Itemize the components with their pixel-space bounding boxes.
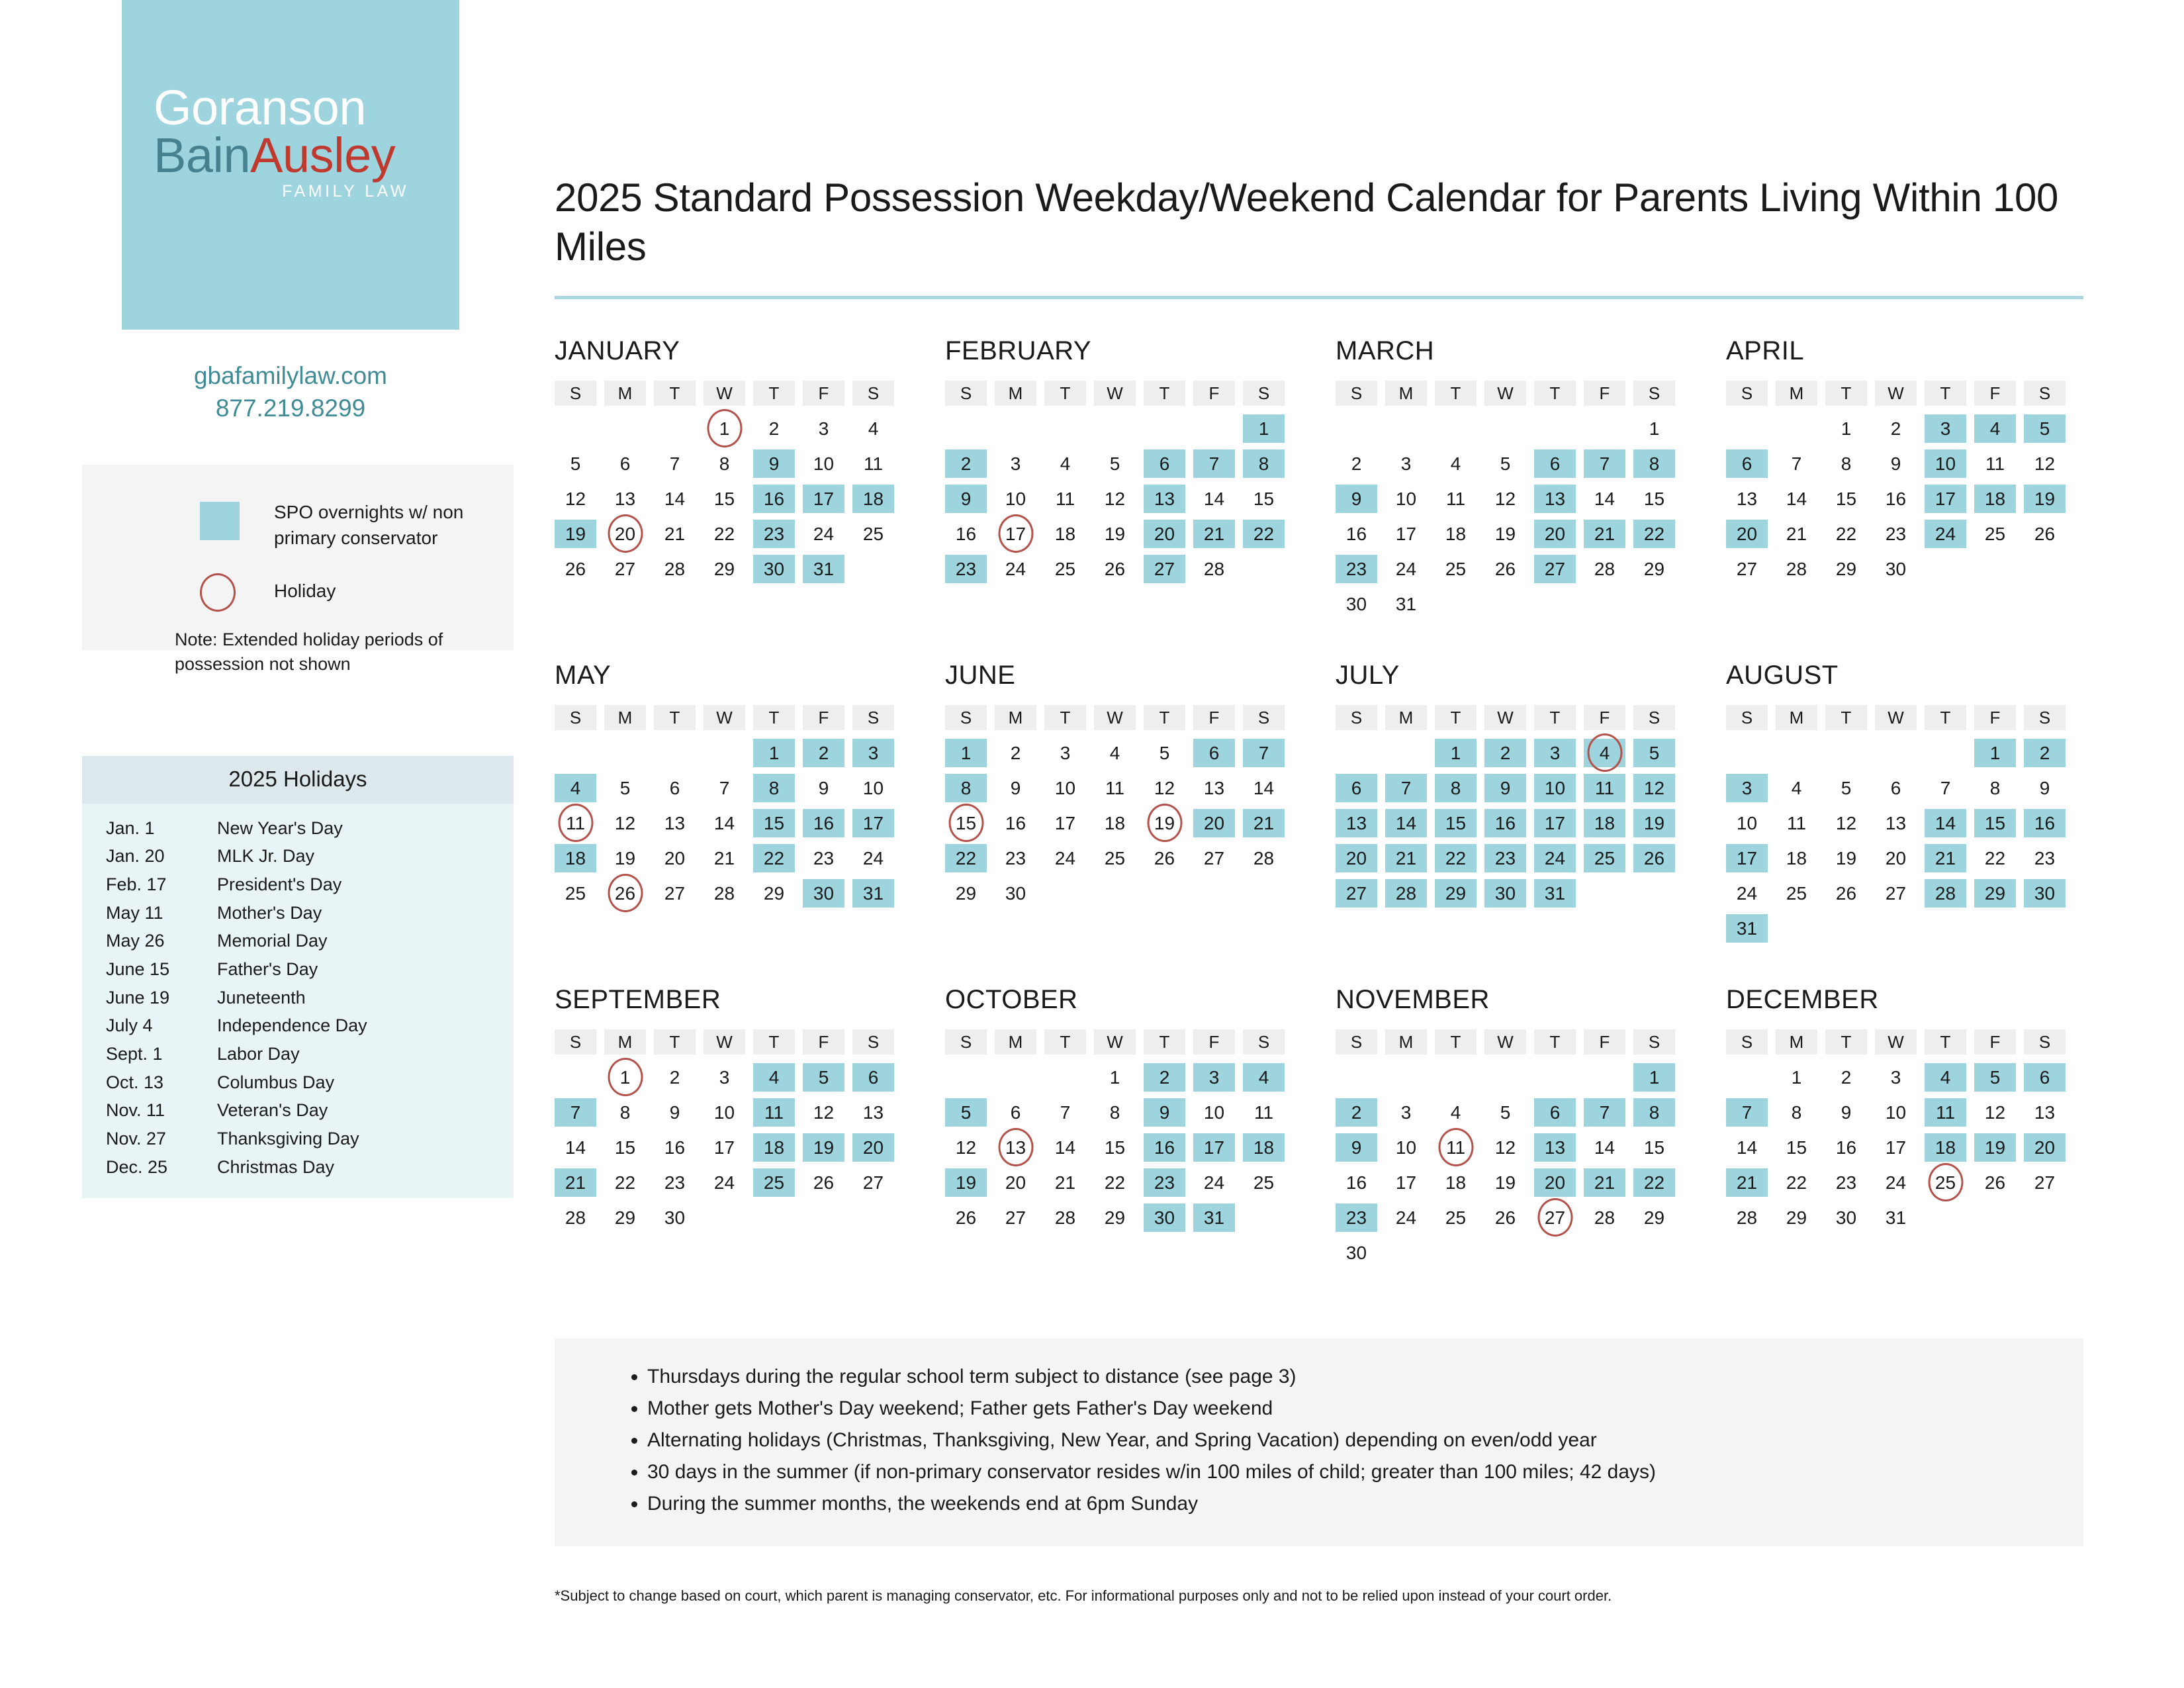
day-cell[interactable]: 16	[995, 809, 1036, 837]
day-cell[interactable]: 7	[1584, 449, 1625, 478]
day-cell[interactable]: 6	[2024, 1063, 2066, 1092]
day-cell[interactable]: 16	[753, 485, 795, 513]
day-cell[interactable]: 2	[1336, 449, 1377, 478]
day-cell[interactable]: 29	[1825, 555, 1867, 583]
day-cell[interactable]: 9	[1875, 449, 1917, 478]
day-cell[interactable]: 9	[1336, 485, 1377, 513]
day-cell[interactable]: 6	[604, 449, 646, 478]
day-cell[interactable]: 16	[1484, 809, 1526, 837]
day-cell[interactable]: 3	[1925, 414, 1966, 443]
day-cell[interactable]: 16	[1336, 1168, 1377, 1197]
day-cell[interactable]: 3	[1385, 449, 1427, 478]
day-cell[interactable]: 1	[1094, 1063, 1136, 1092]
day-cell[interactable]: 22	[945, 844, 987, 872]
day-cell[interactable]: 4	[1044, 449, 1086, 478]
day-cell[interactable]: 28	[1584, 555, 1625, 583]
day-cell[interactable]: 10	[1193, 1098, 1235, 1127]
day-cell[interactable]: 17	[1385, 520, 1427, 548]
day-cell[interactable]: 26	[1633, 844, 1675, 872]
day-cell[interactable]: 1	[1435, 739, 1477, 767]
day-cell[interactable]: 15	[945, 809, 987, 837]
day-cell[interactable]: 21	[1044, 1168, 1086, 1197]
day-cell[interactable]: 12	[1484, 485, 1526, 513]
day-cell[interactable]: 24	[1925, 520, 1966, 548]
day-cell[interactable]: 11	[852, 449, 894, 478]
day-cell[interactable]: 16	[1825, 1133, 1867, 1162]
day-cell[interactable]: 11	[1974, 449, 2016, 478]
day-cell[interactable]: 6	[1193, 739, 1235, 767]
day-cell[interactable]: 22	[753, 844, 795, 872]
day-cell[interactable]: 30	[1825, 1203, 1867, 1232]
day-cell[interactable]: 19	[555, 520, 596, 548]
day-cell[interactable]: 6	[1336, 774, 1377, 802]
day-cell[interactable]: 14	[1925, 809, 1966, 837]
day-cell[interactable]: 17	[852, 809, 894, 837]
day-cell[interactable]: 8	[1435, 774, 1477, 802]
day-cell[interactable]: 24	[1385, 1203, 1427, 1232]
day-cell[interactable]: 12	[1825, 809, 1867, 837]
day-cell[interactable]: 4	[1584, 739, 1625, 767]
day-cell[interactable]: 25	[1044, 555, 1086, 583]
day-cell[interactable]: 1	[604, 1063, 646, 1092]
day-cell[interactable]: 19	[2024, 485, 2066, 513]
day-cell[interactable]: 31	[1534, 879, 1576, 908]
day-cell[interactable]: 26	[945, 1203, 987, 1232]
day-cell[interactable]: 15	[704, 485, 745, 513]
day-cell[interactable]: 24	[803, 520, 844, 548]
day-cell[interactable]: 31	[1385, 590, 1427, 618]
day-cell[interactable]: 4	[753, 1063, 795, 1092]
day-cell[interactable]: 8	[753, 774, 795, 802]
day-cell[interactable]: 13	[654, 809, 696, 837]
day-cell[interactable]: 10	[1875, 1098, 1917, 1127]
day-cell[interactable]: 11	[1243, 1098, 1285, 1127]
day-cell[interactable]: 13	[1534, 1133, 1576, 1162]
day-cell[interactable]: 9	[753, 449, 795, 478]
day-cell[interactable]: 30	[1144, 1203, 1185, 1232]
day-cell[interactable]: 15	[1633, 1133, 1675, 1162]
day-cell[interactable]: 11	[1435, 485, 1477, 513]
day-cell[interactable]: 7	[704, 774, 745, 802]
day-cell[interactable]: 10	[803, 449, 844, 478]
day-cell[interactable]: 31	[852, 879, 894, 908]
day-cell[interactable]: 25	[753, 1168, 795, 1197]
day-cell[interactable]: 8	[604, 1098, 646, 1127]
day-cell[interactable]: 6	[852, 1063, 894, 1092]
day-cell[interactable]: 25	[555, 879, 596, 908]
day-cell[interactable]: 16	[2024, 809, 2066, 837]
day-cell[interactable]: 5	[1484, 1098, 1526, 1127]
day-cell[interactable]: 30	[1875, 555, 1917, 583]
day-cell[interactable]: 19	[1633, 809, 1675, 837]
phone-number[interactable]: 877.219.8299	[122, 393, 459, 425]
day-cell[interactable]: 5	[1144, 739, 1185, 767]
day-cell[interactable]: 24	[1534, 844, 1576, 872]
day-cell[interactable]: 18	[1584, 809, 1625, 837]
day-cell[interactable]: 22	[704, 520, 745, 548]
day-cell[interactable]: 26	[1825, 879, 1867, 908]
day-cell[interactable]: 11	[1094, 774, 1136, 802]
day-cell[interactable]: 27	[1726, 555, 1768, 583]
day-cell[interactable]: 19	[945, 1168, 987, 1197]
day-cell[interactable]: 29	[1776, 1203, 1817, 1232]
day-cell[interactable]: 21	[1776, 520, 1817, 548]
website-link[interactable]: gbafamilylaw.com	[122, 360, 459, 393]
day-cell[interactable]: 1	[1633, 1063, 1675, 1092]
day-cell[interactable]: 26	[1094, 555, 1136, 583]
day-cell[interactable]: 8	[1974, 774, 2016, 802]
day-cell[interactable]: 17	[1193, 1133, 1235, 1162]
day-cell[interactable]: 20	[1193, 809, 1235, 837]
day-cell[interactable]: 26	[2024, 520, 2066, 548]
day-cell[interactable]: 15	[1825, 485, 1867, 513]
day-cell[interactable]: 26	[555, 555, 596, 583]
day-cell[interactable]: 23	[753, 520, 795, 548]
day-cell[interactable]: 17	[995, 520, 1036, 548]
day-cell[interactable]: 20	[604, 520, 646, 548]
day-cell[interactable]: 27	[1193, 844, 1235, 872]
day-cell[interactable]: 27	[604, 555, 646, 583]
day-cell[interactable]: 2	[2024, 739, 2066, 767]
day-cell[interactable]: 8	[1633, 449, 1675, 478]
day-cell[interactable]: 2	[1875, 414, 1917, 443]
day-cell[interactable]: 13	[1193, 774, 1235, 802]
day-cell[interactable]: 17	[1385, 1168, 1427, 1197]
day-cell[interactable]: 10	[852, 774, 894, 802]
day-cell[interactable]: 18	[1435, 1168, 1477, 1197]
day-cell[interactable]: 8	[1094, 1098, 1136, 1127]
day-cell[interactable]: 5	[1974, 1063, 2016, 1092]
day-cell[interactable]: 6	[995, 1098, 1036, 1127]
day-cell[interactable]: 28	[1584, 1203, 1625, 1232]
day-cell[interactable]: 27	[2024, 1168, 2066, 1197]
day-cell[interactable]: 16	[1144, 1133, 1185, 1162]
day-cell[interactable]: 16	[1336, 520, 1377, 548]
day-cell[interactable]: 28	[704, 879, 745, 908]
day-cell[interactable]: 12	[1144, 774, 1185, 802]
day-cell[interactable]: 26	[1974, 1168, 2016, 1197]
day-cell[interactable]: 18	[1094, 809, 1136, 837]
day-cell[interactable]: 14	[1193, 485, 1235, 513]
day-cell[interactable]: 28	[654, 555, 696, 583]
day-cell[interactable]: 12	[1484, 1133, 1526, 1162]
day-cell[interactable]: 6	[654, 774, 696, 802]
day-cell[interactable]: 20	[1875, 844, 1917, 872]
day-cell[interactable]: 22	[1974, 844, 2016, 872]
day-cell[interactable]: 13	[2024, 1098, 2066, 1127]
day-cell[interactable]: 30	[1336, 1239, 1377, 1267]
day-cell[interactable]: 13	[1534, 485, 1576, 513]
day-cell[interactable]: 7	[1925, 774, 1966, 802]
day-cell[interactable]: 11	[1776, 809, 1817, 837]
day-cell[interactable]: 3	[1726, 774, 1768, 802]
day-cell[interactable]: 11	[1925, 1098, 1966, 1127]
day-cell[interactable]: 3	[1193, 1063, 1235, 1092]
day-cell[interactable]: 12	[555, 485, 596, 513]
day-cell[interactable]: 8	[1776, 1098, 1817, 1127]
day-cell[interactable]: 24	[1875, 1168, 1917, 1197]
day-cell[interactable]: 15	[1633, 485, 1675, 513]
day-cell[interactable]: 28	[1193, 555, 1235, 583]
day-cell[interactable]: 25	[1925, 1168, 1966, 1197]
day-cell[interactable]: 20	[1726, 520, 1768, 548]
day-cell[interactable]: 22	[1243, 520, 1285, 548]
day-cell[interactable]: 11	[555, 809, 596, 837]
day-cell[interactable]: 18	[1974, 485, 2016, 513]
day-cell[interactable]: 28	[555, 1203, 596, 1232]
day-cell[interactable]: 7	[1193, 449, 1235, 478]
day-cell[interactable]: 12	[604, 809, 646, 837]
day-cell[interactable]: 2	[803, 739, 844, 767]
day-cell[interactable]: 10	[704, 1098, 745, 1127]
day-cell[interactable]: 27	[1534, 555, 1576, 583]
day-cell[interactable]: 14	[1584, 1133, 1625, 1162]
day-cell[interactable]: 26	[1484, 1203, 1526, 1232]
day-cell[interactable]: 23	[654, 1168, 696, 1197]
day-cell[interactable]: 24	[1044, 844, 1086, 872]
day-cell[interactable]: 25	[852, 520, 894, 548]
day-cell[interactable]: 22	[1094, 1168, 1136, 1197]
day-cell[interactable]: 27	[852, 1168, 894, 1197]
day-cell[interactable]: 9	[1484, 774, 1526, 802]
day-cell[interactable]: 6	[1534, 1098, 1576, 1127]
day-cell[interactable]: 21	[1726, 1168, 1768, 1197]
day-cell[interactable]: 12	[1974, 1098, 2016, 1127]
day-cell[interactable]: 29	[753, 879, 795, 908]
day-cell[interactable]: 24	[704, 1168, 745, 1197]
day-cell[interactable]: 7	[1385, 774, 1427, 802]
day-cell[interactable]: 13	[1144, 485, 1185, 513]
day-cell[interactable]: 3	[1875, 1063, 1917, 1092]
day-cell[interactable]: 21	[1925, 844, 1966, 872]
day-cell[interactable]: 13	[1336, 809, 1377, 837]
day-cell[interactable]: 18	[1925, 1133, 1966, 1162]
day-cell[interactable]: 15	[1243, 485, 1285, 513]
day-cell[interactable]: 13	[852, 1098, 894, 1127]
day-cell[interactable]: 19	[1974, 1133, 2016, 1162]
day-cell[interactable]: 15	[604, 1133, 646, 1162]
day-cell[interactable]: 9	[995, 774, 1036, 802]
day-cell[interactable]: 10	[1925, 449, 1966, 478]
day-cell[interactable]: 17	[1875, 1133, 1917, 1162]
day-cell[interactable]: 25	[1776, 879, 1817, 908]
day-cell[interactable]: 1	[1974, 739, 2016, 767]
day-cell[interactable]: 4	[1776, 774, 1817, 802]
day-cell[interactable]: 4	[1094, 739, 1136, 767]
day-cell[interactable]: 23	[945, 555, 987, 583]
day-cell[interactable]: 21	[1243, 809, 1285, 837]
day-cell[interactable]: 23	[1336, 1203, 1377, 1232]
day-cell[interactable]: 18	[1435, 520, 1477, 548]
day-cell[interactable]: 20	[1336, 844, 1377, 872]
day-cell[interactable]: 30	[1336, 590, 1377, 618]
day-cell[interactable]: 31	[803, 555, 844, 583]
day-cell[interactable]: 22	[1633, 520, 1675, 548]
day-cell[interactable]: 15	[1435, 809, 1477, 837]
day-cell[interactable]: 9	[945, 485, 987, 513]
day-cell[interactable]: 1	[1243, 414, 1285, 443]
day-cell[interactable]: 6	[1726, 449, 1768, 478]
day-cell[interactable]: 9	[1336, 1133, 1377, 1162]
day-cell[interactable]: 16	[945, 520, 987, 548]
day-cell[interactable]: 2	[945, 449, 987, 478]
day-cell[interactable]: 27	[654, 879, 696, 908]
day-cell[interactable]: 26	[1144, 844, 1185, 872]
day-cell[interactable]: 15	[1094, 1133, 1136, 1162]
day-cell[interactable]: 1	[945, 739, 987, 767]
day-cell[interactable]: 22	[1825, 520, 1867, 548]
day-cell[interactable]: 1	[1825, 414, 1867, 443]
day-cell[interactable]: 5	[1633, 739, 1675, 767]
day-cell[interactable]: 2	[1825, 1063, 1867, 1092]
day-cell[interactable]: 8	[1825, 449, 1867, 478]
day-cell[interactable]: 18	[555, 844, 596, 872]
day-cell[interactable]: 12	[2024, 449, 2066, 478]
day-cell[interactable]: 7	[1776, 449, 1817, 478]
day-cell[interactable]: 7	[555, 1098, 596, 1127]
day-cell[interactable]: 8	[1243, 449, 1285, 478]
day-cell[interactable]: 29	[1974, 879, 2016, 908]
day-cell[interactable]: 9	[2024, 774, 2066, 802]
day-cell[interactable]: 27	[1534, 1203, 1576, 1232]
day-cell[interactable]: 29	[1435, 879, 1477, 908]
day-cell[interactable]: 23	[1825, 1168, 1867, 1197]
day-cell[interactable]: 20	[2024, 1133, 2066, 1162]
day-cell[interactable]: 13	[995, 1133, 1036, 1162]
day-cell[interactable]: 21	[1385, 844, 1427, 872]
day-cell[interactable]: 30	[753, 555, 795, 583]
day-cell[interactable]: 23	[1875, 520, 1917, 548]
day-cell[interactable]: 2	[995, 739, 1036, 767]
day-cell[interactable]: 20	[995, 1168, 1036, 1197]
day-cell[interactable]: 2	[753, 414, 795, 443]
day-cell[interactable]: 14	[1044, 1133, 1086, 1162]
day-cell[interactable]: 1	[1633, 414, 1675, 443]
day-cell[interactable]: 14	[555, 1133, 596, 1162]
day-cell[interactable]: 9	[654, 1098, 696, 1127]
day-cell[interactable]: 25	[1974, 520, 2016, 548]
day-cell[interactable]: 22	[604, 1168, 646, 1197]
day-cell[interactable]: 21	[1584, 520, 1625, 548]
day-cell[interactable]: 28	[1385, 879, 1427, 908]
day-cell[interactable]: 29	[1633, 555, 1675, 583]
day-cell[interactable]: 2	[1336, 1098, 1377, 1127]
day-cell[interactable]: 8	[945, 774, 987, 802]
day-cell[interactable]: 20	[1534, 1168, 1576, 1197]
day-cell[interactable]: 19	[1144, 809, 1185, 837]
day-cell[interactable]: 10	[1534, 774, 1576, 802]
day-cell[interactable]: 7	[1243, 739, 1285, 767]
day-cell[interactable]: 18	[1243, 1133, 1285, 1162]
day-cell[interactable]: 23	[995, 844, 1036, 872]
day-cell[interactable]: 21	[654, 520, 696, 548]
day-cell[interactable]: 18	[852, 485, 894, 513]
day-cell[interactable]: 5	[803, 1063, 844, 1092]
day-cell[interactable]: 25	[1435, 555, 1477, 583]
day-cell[interactable]: 11	[1435, 1133, 1477, 1162]
day-cell[interactable]: 14	[1385, 809, 1427, 837]
day-cell[interactable]: 30	[803, 879, 844, 908]
day-cell[interactable]: 29	[1633, 1203, 1675, 1232]
day-cell[interactable]: 20	[852, 1133, 894, 1162]
day-cell[interactable]: 6	[1875, 774, 1917, 802]
day-cell[interactable]: 9	[1144, 1098, 1185, 1127]
day-cell[interactable]: 3	[1044, 739, 1086, 767]
day-cell[interactable]: 19	[1825, 844, 1867, 872]
day-cell[interactable]: 14	[1584, 485, 1625, 513]
day-cell[interactable]: 19	[1094, 520, 1136, 548]
day-cell[interactable]: 1	[1776, 1063, 1817, 1092]
day-cell[interactable]: 23	[1484, 844, 1526, 872]
day-cell[interactable]: 22	[1435, 844, 1477, 872]
day-cell[interactable]: 23	[1144, 1168, 1185, 1197]
day-cell[interactable]: 14	[654, 485, 696, 513]
day-cell[interactable]: 15	[1776, 1133, 1817, 1162]
day-cell[interactable]: 21	[1193, 520, 1235, 548]
day-cell[interactable]: 1	[753, 739, 795, 767]
day-cell[interactable]: 3	[1385, 1098, 1427, 1127]
day-cell[interactable]: 28	[1044, 1203, 1086, 1232]
day-cell[interactable]: 5	[1094, 449, 1136, 478]
day-cell[interactable]: 5	[1484, 449, 1526, 478]
day-cell[interactable]: 4	[852, 414, 894, 443]
day-cell[interactable]: 2	[1484, 739, 1526, 767]
day-cell[interactable]: 24	[995, 555, 1036, 583]
day-cell[interactable]: 24	[1193, 1168, 1235, 1197]
day-cell[interactable]: 7	[654, 449, 696, 478]
day-cell[interactable]: 25	[1243, 1168, 1285, 1197]
day-cell[interactable]: 25	[1584, 844, 1625, 872]
day-cell[interactable]: 13	[1875, 809, 1917, 837]
day-cell[interactable]: 2	[654, 1063, 696, 1092]
day-cell[interactable]: 10	[1385, 1133, 1427, 1162]
day-cell[interactable]: 26	[803, 1168, 844, 1197]
day-cell[interactable]: 4	[1974, 414, 2016, 443]
day-cell[interactable]: 30	[995, 879, 1036, 908]
day-cell[interactable]: 18	[1776, 844, 1817, 872]
day-cell[interactable]: 13	[604, 485, 646, 513]
day-cell[interactable]: 26	[1484, 555, 1526, 583]
day-cell[interactable]: 20	[654, 844, 696, 872]
day-cell[interactable]: 4	[1925, 1063, 1966, 1092]
day-cell[interactable]: 14	[704, 809, 745, 837]
day-cell[interactable]: 9	[803, 774, 844, 802]
day-cell[interactable]: 30	[2024, 879, 2066, 908]
day-cell[interactable]: 4	[1243, 1063, 1285, 1092]
day-cell[interactable]: 5	[1825, 774, 1867, 802]
day-cell[interactable]: 12	[1094, 485, 1136, 513]
day-cell[interactable]: 17	[1925, 485, 1966, 513]
day-cell[interactable]: 12	[803, 1098, 844, 1127]
day-cell[interactable]: 5	[2024, 414, 2066, 443]
day-cell[interactable]: 5	[945, 1098, 987, 1127]
day-cell[interactable]: 10	[995, 485, 1036, 513]
day-cell[interactable]: 16	[654, 1133, 696, 1162]
day-cell[interactable]: 20	[1144, 520, 1185, 548]
day-cell[interactable]: 22	[1776, 1168, 1817, 1197]
day-cell[interactable]: 28	[1776, 555, 1817, 583]
day-cell[interactable]: 26	[604, 879, 646, 908]
day-cell[interactable]: 30	[654, 1203, 696, 1232]
day-cell[interactable]: 19	[1484, 1168, 1526, 1197]
day-cell[interactable]: 17	[1044, 809, 1086, 837]
day-cell[interactable]: 7	[1584, 1098, 1625, 1127]
day-cell[interactable]: 9	[1825, 1098, 1867, 1127]
day-cell[interactable]: 24	[852, 844, 894, 872]
day-cell[interactable]: 29	[704, 555, 745, 583]
day-cell[interactable]: 16	[803, 809, 844, 837]
day-cell[interactable]: 7	[1044, 1098, 1086, 1127]
